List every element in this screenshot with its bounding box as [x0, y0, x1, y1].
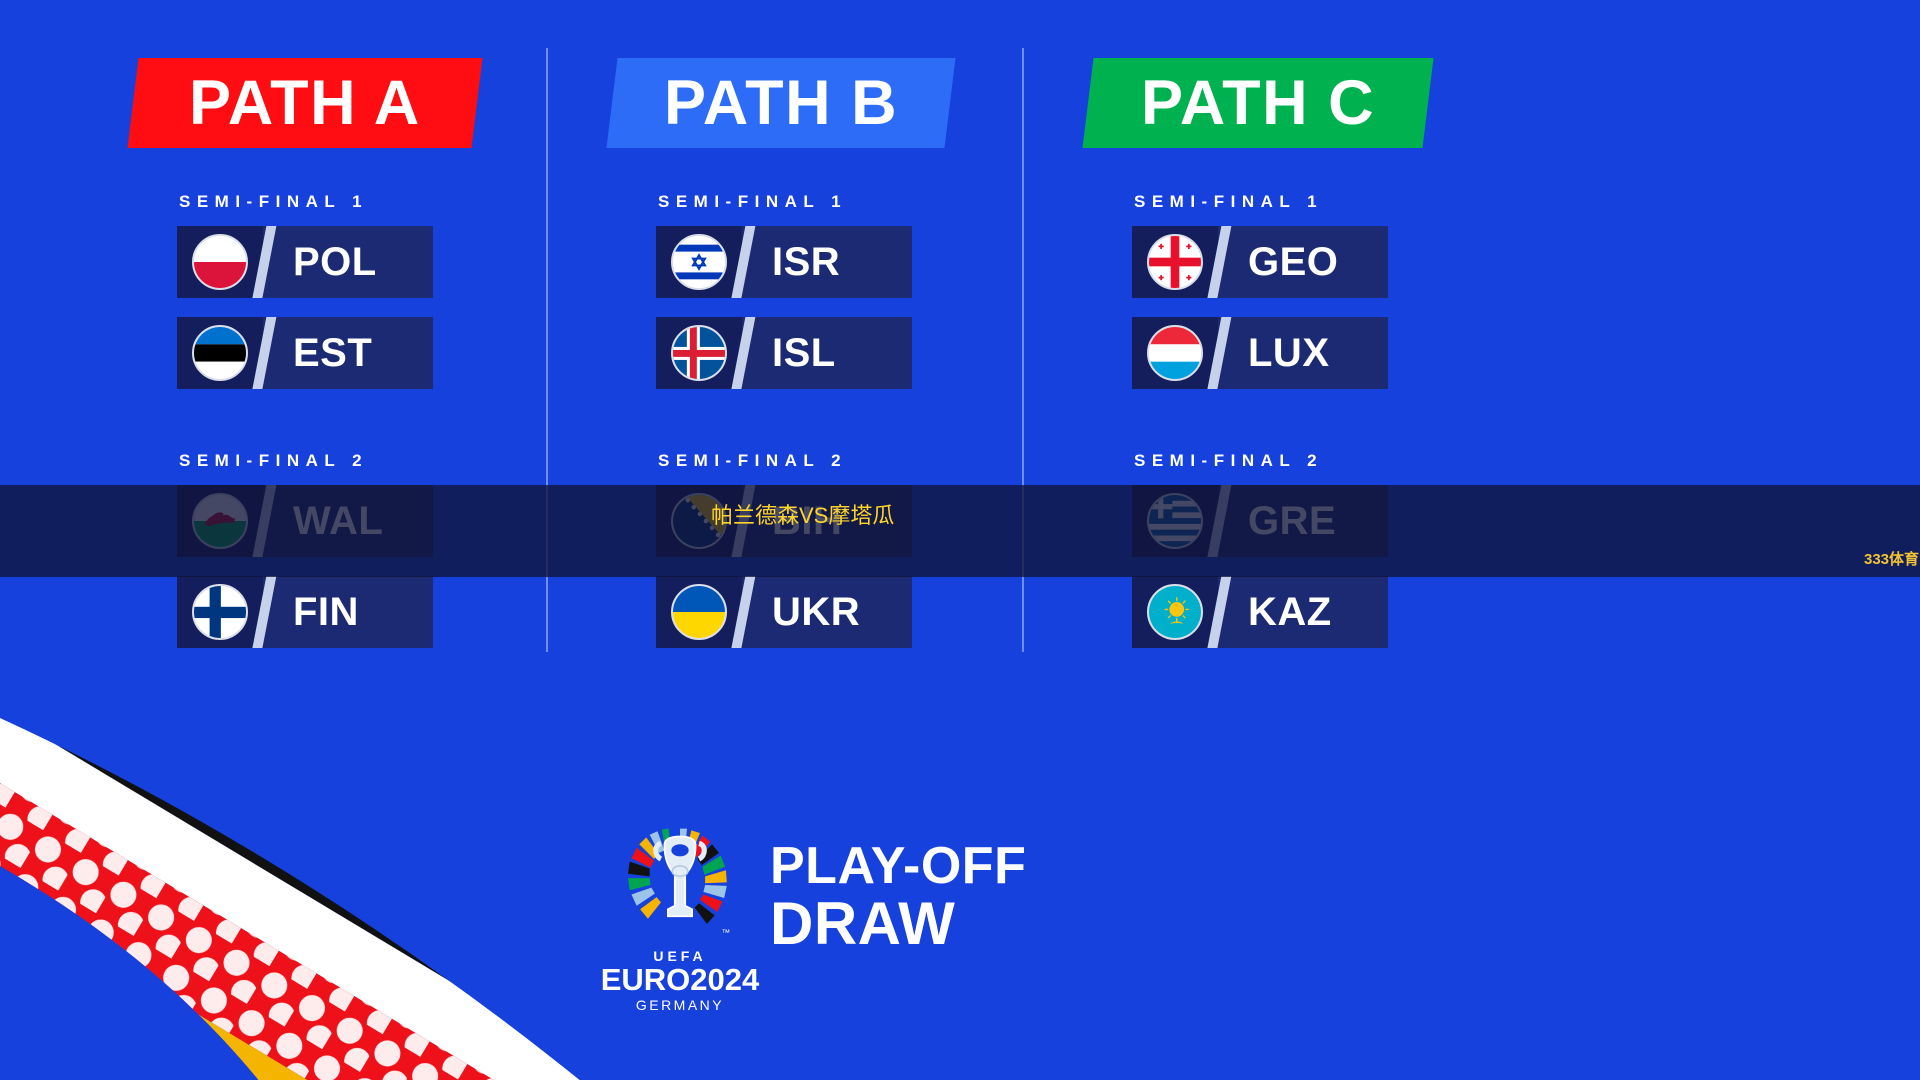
israel-flag-cell: [656, 226, 742, 298]
page-title: PLAY-OFF DRAW: [770, 840, 1026, 954]
overlay-watermark: 333体育: [1864, 548, 1919, 569]
iceland-flag-icon: [671, 325, 727, 381]
table-row[interactable]: GEO: [1132, 226, 1388, 298]
team-code: POL: [293, 242, 377, 282]
playoff-draw-graphic: PATH A SEMI-FINAL 1 POL: [0, 0, 1920, 1080]
estonia-flag-cell: [177, 317, 263, 389]
table-row[interactable]: EST: [177, 317, 433, 389]
team-code: LUX: [1248, 333, 1330, 373]
path-c-banner: PATH C: [1082, 58, 1433, 148]
path-b-semifinal-1-label: SEMI-FINAL 1: [658, 192, 1032, 212]
poland-flag-cell: [177, 226, 263, 298]
kazakhstan-flag-cell: [1132, 576, 1218, 648]
georgia-flag-icon: [1147, 234, 1203, 290]
svg-text:™: ™: [722, 927, 731, 937]
table-row[interactable]: LUX: [1132, 317, 1388, 389]
team-code: ISR: [772, 242, 840, 282]
poland-flag-icon: [192, 234, 248, 290]
table-row[interactable]: UKR: [656, 576, 912, 648]
path-c-semifinal-1-label: SEMI-FINAL 1: [1134, 192, 1508, 212]
finland-flag-icon: [192, 584, 248, 640]
ukraine-flag-cell: [656, 576, 742, 648]
euro2024-label: EURO2024: [601, 964, 760, 997]
team-code: UKR: [772, 592, 860, 632]
footer-branding: ™ UEFA EURO2024 GERMANY PLAY-OFF DRAW: [620, 826, 1026, 1013]
path-b-banner: PATH B: [606, 58, 955, 148]
israel-flag-icon: [671, 234, 727, 290]
team-code: GEO: [1248, 242, 1338, 282]
luxembourg-flag-icon: [1147, 325, 1203, 381]
team-code: FIN: [293, 592, 359, 632]
path-b-semifinal-1-matches: ISR ISL: [656, 226, 1032, 389]
luxembourg-flag-cell: [1132, 317, 1218, 389]
team-code: KAZ: [1248, 592, 1332, 632]
ukraine-flag-icon: [671, 584, 727, 640]
georgia-flag-cell: [1132, 226, 1218, 298]
path-a-semifinal-1-label: SEMI-FINAL 1: [179, 192, 553, 212]
iceland-flag-cell: [656, 317, 742, 389]
path-c-semifinal-1-matches: GEO LUX: [1132, 226, 1508, 389]
path-a-banner: PATH A: [127, 58, 482, 148]
translucent-overlay-band: [0, 485, 1920, 577]
path-a-semifinal-2-label: SEMI-FINAL 2: [179, 451, 553, 471]
path-a-semifinal-1-matches: POL EST: [177, 226, 553, 389]
trophy-icon: ™: [628, 826, 732, 944]
euro2024-ribbon-art: [0, 660, 640, 1080]
team-code: EST: [293, 333, 372, 373]
table-row[interactable]: FIN: [177, 576, 433, 648]
estonia-flag-icon: [192, 325, 248, 381]
path-a-title: PATH A: [189, 72, 421, 135]
finland-flag-cell: [177, 576, 263, 648]
path-c-title: PATH C: [1141, 72, 1375, 135]
playoff-title-line2: DRAW: [770, 893, 1026, 954]
overlay-commentary-text: 帕兰德森VS摩塔瓜: [711, 498, 894, 530]
table-row[interactable]: ISR: [656, 226, 912, 298]
table-row[interactable]: ISL: [656, 317, 912, 389]
playoff-title-line1: PLAY-OFF: [770, 837, 1026, 895]
table-row[interactable]: KAZ: [1132, 576, 1388, 648]
path-c-semifinal-2-label: SEMI-FINAL 2: [1134, 451, 1508, 471]
germany-label: GERMANY: [636, 997, 724, 1013]
kazakhstan-flag-icon: [1147, 584, 1203, 640]
path-b-title: PATH B: [664, 72, 898, 135]
euro2024-logo: ™ UEFA EURO2024 GERMANY: [620, 826, 740, 1013]
team-code: ISL: [772, 333, 836, 373]
table-row[interactable]: POL: [177, 226, 433, 298]
path-b-semifinal-2-label: SEMI-FINAL 2: [658, 451, 1032, 471]
